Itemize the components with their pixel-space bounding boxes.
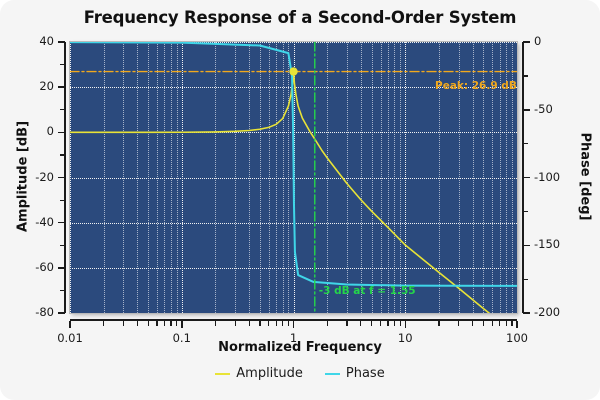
peak-marker-dot xyxy=(289,67,297,75)
y-ticklabel-left: -60 xyxy=(0,260,54,274)
x-minortick xyxy=(249,321,250,326)
x-minortick xyxy=(387,321,388,326)
x-minortick xyxy=(156,321,157,326)
y-minortick-left xyxy=(60,200,65,201)
y-ticklabel-right: -50 xyxy=(534,102,553,116)
x-tick xyxy=(69,321,71,328)
x-minortick xyxy=(276,321,277,326)
x-minortick xyxy=(438,321,439,326)
x-minortick xyxy=(259,321,260,326)
x-minortick xyxy=(346,321,347,326)
page-title: Frequency Response of a Second-Order Sys… xyxy=(0,8,600,27)
x-minortick xyxy=(458,321,459,326)
x-tick xyxy=(293,321,295,328)
y-tick-right xyxy=(523,109,530,111)
y-axis-label-right: Phase [deg] xyxy=(578,106,593,246)
y-minortick-left xyxy=(60,109,65,110)
x-minortick xyxy=(215,321,216,326)
x-minortick xyxy=(380,321,381,326)
y-tick-right xyxy=(523,312,530,314)
y-minortick-left xyxy=(60,290,65,291)
y-tick-right xyxy=(523,177,530,179)
x-minortick xyxy=(511,321,512,326)
y-minortick-right xyxy=(523,143,528,144)
chart-figure: Frequency Response of a Second-Order Sys… xyxy=(0,0,600,400)
peak-annotation-label: Peak: 26.9 dB xyxy=(435,80,517,92)
x-minortick xyxy=(394,321,395,326)
x-tick xyxy=(516,321,518,328)
y-minortick-left xyxy=(60,64,65,65)
x-minortick xyxy=(176,321,177,326)
x-minortick xyxy=(137,321,138,326)
y-tick-left xyxy=(58,312,65,314)
y-tick-left xyxy=(58,222,65,224)
legend-item-phase[interactable]: Phase xyxy=(325,366,385,381)
y-tick-left xyxy=(58,267,65,269)
x-minortick xyxy=(282,321,283,326)
legend-label-phase: Phase xyxy=(346,366,385,381)
x-minortick xyxy=(103,321,104,326)
y-tick-left xyxy=(58,86,65,88)
x-tick xyxy=(405,321,407,328)
x-minortick xyxy=(371,321,372,326)
x-minortick xyxy=(164,321,165,326)
y-tick-right xyxy=(523,245,530,247)
y-tick-left xyxy=(58,41,65,43)
y-ticklabel-right: 0 xyxy=(534,34,541,48)
x-minortick xyxy=(499,321,500,326)
legend-item-amplitude[interactable]: Amplitude xyxy=(215,366,303,381)
x-minortick xyxy=(170,321,171,326)
x-minortick xyxy=(472,321,473,326)
y-ticklabel-right: -200 xyxy=(534,305,560,319)
y-minortick-left xyxy=(60,154,65,155)
bandwidth-annotation-label: -3 dB at f = 1.55 xyxy=(319,285,416,297)
x-minortick xyxy=(492,321,493,326)
y-minortick-right xyxy=(523,75,528,76)
x-minortick xyxy=(123,321,124,326)
y-tick-right xyxy=(523,41,530,43)
legend-swatch-phase xyxy=(325,373,340,375)
x-minortick xyxy=(483,321,484,326)
y-minortick-right xyxy=(523,211,528,212)
y-ticklabel-left: 40 xyxy=(0,34,54,48)
y-ticklabel-right: -150 xyxy=(534,237,560,251)
plot-area: Peak: 26.9 dB -3 dB at f = 1.55 xyxy=(70,42,517,313)
legend: Amplitude Phase xyxy=(0,366,600,381)
x-minortick xyxy=(360,321,361,326)
x-tick xyxy=(181,321,183,328)
legend-swatch-amplitude xyxy=(215,373,230,375)
x-axis-label: Normalized Frequency xyxy=(0,340,600,355)
y-ticklabel-right: -100 xyxy=(534,170,560,184)
y-minortick-right xyxy=(523,279,528,280)
y-ticklabel-left: -80 xyxy=(0,305,54,319)
y-ticklabel-left: 20 xyxy=(0,79,54,93)
y-minortick-left xyxy=(60,245,65,246)
y-axis-label-left: Amplitude [dB] xyxy=(16,106,31,246)
y-tick-left xyxy=(58,132,65,134)
x-minortick xyxy=(268,321,269,326)
legend-label-amplitude: Amplitude xyxy=(236,366,303,381)
x-minortick xyxy=(327,321,328,326)
x-minortick xyxy=(148,321,149,326)
x-minortick xyxy=(400,321,401,326)
x-minortick xyxy=(288,321,289,326)
y-tick-left xyxy=(58,177,65,179)
x-minortick xyxy=(235,321,236,326)
x-minortick xyxy=(506,321,507,326)
